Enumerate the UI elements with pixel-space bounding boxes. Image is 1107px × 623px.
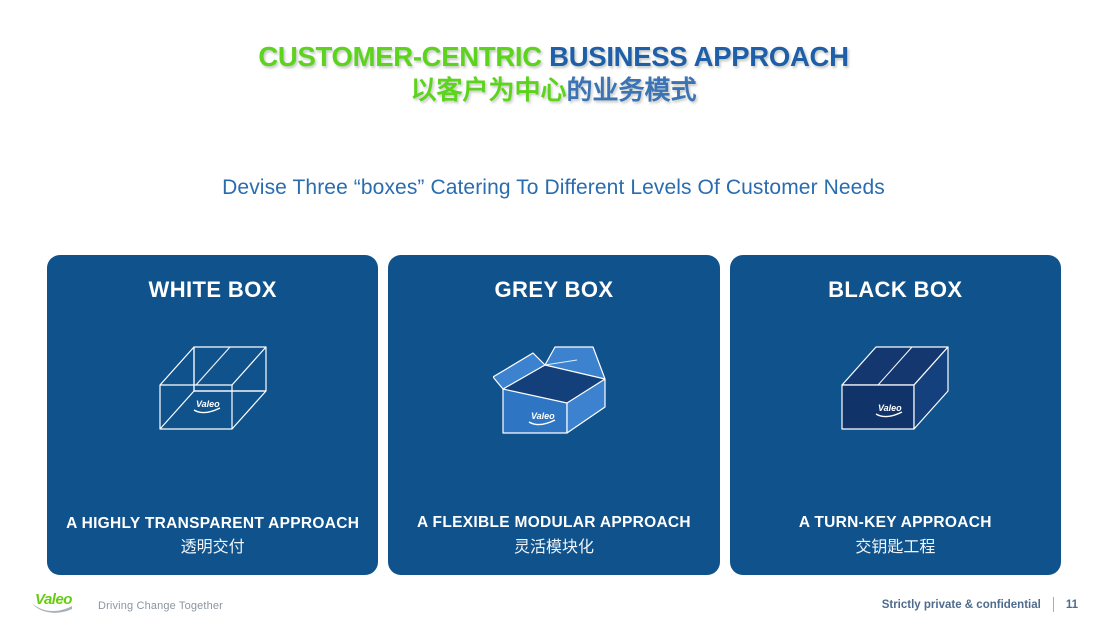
slide-footer: Valeo Driving Change Together Strictly p…	[0, 583, 1107, 623]
page-title-chinese-blue-part: 的业务模式	[567, 75, 697, 105]
page-title: CUSTOMER-CENTRIC BUSINESS APPROACH	[0, 42, 1107, 73]
open-modular-box-icon: Valeo	[388, 341, 719, 441]
page-title-chinese-green-part: 以客户为中心	[410, 75, 566, 105]
slide-title-block: CUSTOMER-CENTRIC BUSINESS APPROACH 以客户为中…	[0, 42, 1107, 106]
card-grey-box-caption-cn: 灵活模块化	[400, 536, 707, 559]
card-white-box-caption-en: A HIGHLY TRANSPARENT APPROACH	[59, 514, 366, 534]
footer-confidentiality: Strictly private & confidential	[882, 599, 1041, 611]
page-number: 11	[1066, 599, 1078, 611]
svg-text:Valeo: Valeo	[531, 411, 555, 421]
wireframe-transparent-box-icon: Valeo	[47, 341, 378, 437]
card-white-box-caption-cn: 透明交付	[59, 536, 366, 559]
card-white-box-title: WHITE BOX	[149, 277, 277, 303]
card-white-box-caption: A HIGHLY TRANSPARENT APPROACH 透明交付	[47, 514, 378, 559]
page-title-chinese: 以客户为中心的业务模式	[0, 75, 1107, 106]
box-card-group: WHITE BOX	[47, 255, 1061, 575]
footer-brand: Valeo Driving Change Together	[31, 590, 223, 614]
card-black-box-caption-en: A TURN-KEY APPROACH	[742, 511, 1049, 535]
card-white-box[interactable]: WHITE BOX	[47, 255, 378, 575]
card-black-box-caption: A TURN-KEY APPROACH 交钥匙工程	[730, 511, 1061, 559]
page-title-green-part: CUSTOMER-CENTRIC	[258, 41, 541, 72]
slide-subtitle: Devise Three “boxes” Catering To Differe…	[0, 176, 1107, 200]
card-grey-box-title: GREY BOX	[495, 277, 614, 303]
card-black-box-title: BLACK BOX	[828, 277, 962, 303]
footer-divider	[1053, 597, 1054, 612]
card-grey-box-caption-en: A FLEXIBLE MODULAR APPROACH	[400, 511, 707, 535]
card-grey-box-caption: A FLEXIBLE MODULAR APPROACH 灵活模块化	[388, 511, 719, 559]
svg-text:Valeo: Valeo	[878, 403, 902, 413]
svg-text:Valeo: Valeo	[35, 591, 72, 608]
footer-tagline: Driving Change Together	[98, 600, 223, 614]
footer-meta: Strictly private & confidential 11	[882, 597, 1078, 612]
card-black-box-caption-cn: 交钥匙工程	[742, 536, 1049, 559]
svg-text:Valeo: Valeo	[196, 399, 220, 409]
valeo-mark-on-box: Valeo	[194, 399, 220, 413]
slide: CUSTOMER-CENTRIC BUSINESS APPROACH 以客户为中…	[0, 0, 1107, 623]
card-black-box[interactable]: BLACK BOX Valeo	[730, 255, 1061, 575]
valeo-logo-icon: Valeo	[31, 590, 87, 614]
card-grey-box[interactable]: GREY BOX	[388, 255, 719, 575]
page-title-blue-part: BUSINESS APPROACH	[542, 41, 849, 72]
closed-sealed-box-icon: Valeo	[730, 341, 1061, 437]
